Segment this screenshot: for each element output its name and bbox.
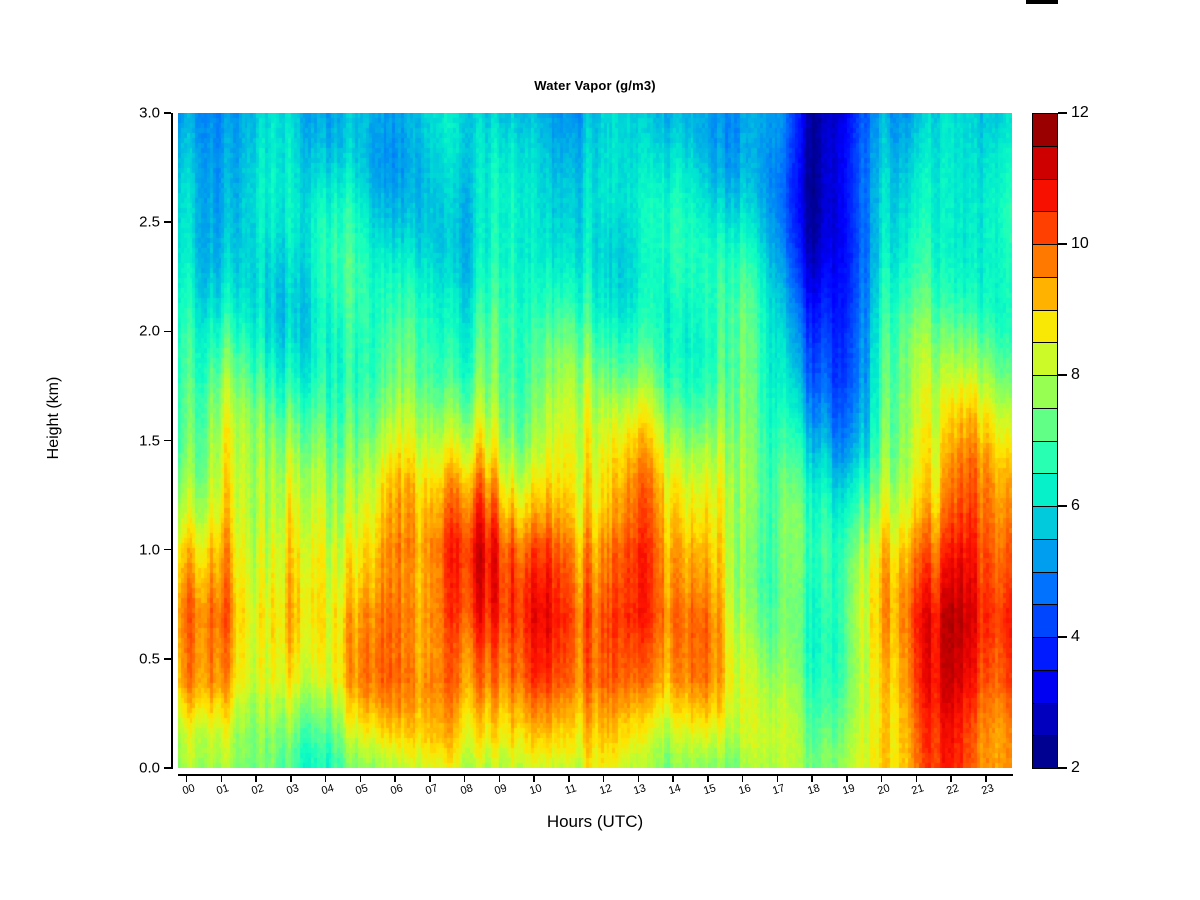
x-tick-mark xyxy=(255,775,257,782)
x-tick-label: 19 xyxy=(841,782,856,797)
x-tick-label: 03 xyxy=(285,782,300,797)
y-tick-mark xyxy=(164,221,171,223)
y-tick-label: 2.5 xyxy=(60,214,160,231)
colorbar-block xyxy=(1032,539,1058,573)
y-tick-mark xyxy=(164,767,171,769)
x-tick-mark xyxy=(881,775,883,782)
colorbar-tick-mark xyxy=(1058,374,1067,376)
y-tick-mark xyxy=(164,331,171,333)
y-tick-label: 0.5 xyxy=(60,650,160,667)
y-tick-label: 0.0 xyxy=(60,760,160,777)
top-artifact-bar xyxy=(1026,0,1058,4)
colorbar-tick-label: 12 xyxy=(1071,104,1089,122)
colorbar-block xyxy=(1032,375,1058,409)
x-tick-label: 08 xyxy=(459,782,474,797)
colorbar-block xyxy=(1032,342,1058,376)
y-axis-title: Height (km) xyxy=(45,318,63,518)
x-tick-label: 02 xyxy=(250,782,265,797)
colorbar-tick-label: 2 xyxy=(1071,759,1080,777)
water-vapor-figure: Water Vapor (g/m3) 0.00.51.01.52.02.53.0… xyxy=(0,0,1200,900)
x-tick-label: 16 xyxy=(737,782,752,797)
heatmap-canvas xyxy=(178,113,1012,768)
x-tick-mark xyxy=(360,775,362,782)
colorbar-tick-mark xyxy=(1058,112,1067,114)
x-tick-label: 20 xyxy=(876,782,891,797)
x-tick-label: 06 xyxy=(389,782,404,797)
colorbar-tick-label: 4 xyxy=(1071,628,1080,646)
colorbar-block xyxy=(1032,473,1058,507)
x-axis-line xyxy=(178,774,1013,776)
y-axis-line xyxy=(171,113,173,769)
colorbar-tick-mark xyxy=(1058,636,1067,638)
x-tick-label: 05 xyxy=(355,782,370,797)
colorbar-tick-label: 8 xyxy=(1071,366,1080,384)
x-tick-mark xyxy=(777,775,779,782)
x-tick-label: 01 xyxy=(216,782,231,797)
x-tick-label: 07 xyxy=(424,782,439,797)
x-tick-label: 11 xyxy=(563,782,577,797)
heatmap-plot-area xyxy=(178,113,1012,768)
x-tick-mark xyxy=(394,775,396,782)
colorbar-block xyxy=(1032,146,1058,180)
colorbar-block xyxy=(1032,310,1058,344)
y-tick-mark xyxy=(164,549,171,551)
x-tick-mark xyxy=(638,775,640,782)
x-tick-mark xyxy=(568,775,570,782)
y-tick-label: 1.5 xyxy=(60,432,160,449)
x-tick-mark xyxy=(429,775,431,782)
x-axis-title: Hours (UTC) xyxy=(178,812,1012,832)
y-tick-label: 3.0 xyxy=(60,105,160,122)
colorbar-tick-mark xyxy=(1058,243,1067,245)
y-tick-mark xyxy=(164,440,171,442)
colorbar-tick-label: 6 xyxy=(1071,497,1080,515)
colorbar-block xyxy=(1032,244,1058,278)
x-tick-label: 10 xyxy=(528,782,543,797)
colorbar-block xyxy=(1032,670,1058,704)
x-tick-label: 09 xyxy=(494,782,509,797)
colorbar-block xyxy=(1032,506,1058,540)
y-tick-mark xyxy=(164,112,171,114)
x-tick-label: 00 xyxy=(181,782,196,797)
x-tick-label: 22 xyxy=(945,782,960,797)
x-tick-mark xyxy=(672,775,674,782)
y-tick-label: 2.0 xyxy=(60,323,160,340)
colorbar-block xyxy=(1032,113,1058,147)
colorbar-tick-mark xyxy=(1058,505,1067,507)
x-tick-mark xyxy=(325,775,327,782)
x-tick-mark xyxy=(950,775,952,782)
x-tick-mark xyxy=(846,775,848,782)
x-tick-mark xyxy=(499,775,501,782)
colorbar-block xyxy=(1032,637,1058,671)
x-tick-label: 14 xyxy=(667,782,682,797)
x-tick-label: 21 xyxy=(911,782,926,797)
colorbar-block xyxy=(1032,211,1058,245)
colorbar-tick-mark xyxy=(1058,767,1067,769)
x-tick-label: 12 xyxy=(598,782,613,797)
colorbar-block xyxy=(1032,441,1058,475)
x-tick-label: 18 xyxy=(806,782,821,797)
colorbar-tick-label: 10 xyxy=(1071,235,1089,253)
colorbar-block xyxy=(1032,277,1058,311)
x-tick-mark xyxy=(916,775,918,782)
x-tick-mark xyxy=(533,775,535,782)
colorbar-block xyxy=(1032,408,1058,442)
colorbar-block xyxy=(1032,703,1058,737)
colorbar xyxy=(1032,113,1058,768)
x-tick-mark xyxy=(186,775,188,782)
x-tick-label: 13 xyxy=(633,782,648,797)
x-tick-mark xyxy=(811,775,813,782)
x-tick-mark xyxy=(707,775,709,782)
x-tick-label: 15 xyxy=(702,782,717,797)
colorbar-block xyxy=(1032,735,1058,769)
x-tick-mark xyxy=(464,775,466,782)
x-tick-label: 17 xyxy=(772,782,787,797)
x-tick-mark xyxy=(290,775,292,782)
colorbar-block xyxy=(1032,604,1058,638)
x-tick-mark xyxy=(985,775,987,782)
x-tick-mark xyxy=(221,775,223,782)
colorbar-block xyxy=(1032,179,1058,213)
x-tick-label: 23 xyxy=(980,782,995,797)
y-tick-label: 1.0 xyxy=(60,541,160,558)
x-tick-mark xyxy=(742,775,744,782)
page-title: Water Vapor (g/m3) xyxy=(178,78,1012,93)
colorbar-block xyxy=(1032,572,1058,606)
x-tick-mark xyxy=(603,775,605,782)
x-tick-label: 04 xyxy=(320,782,335,797)
y-tick-mark xyxy=(164,658,171,660)
